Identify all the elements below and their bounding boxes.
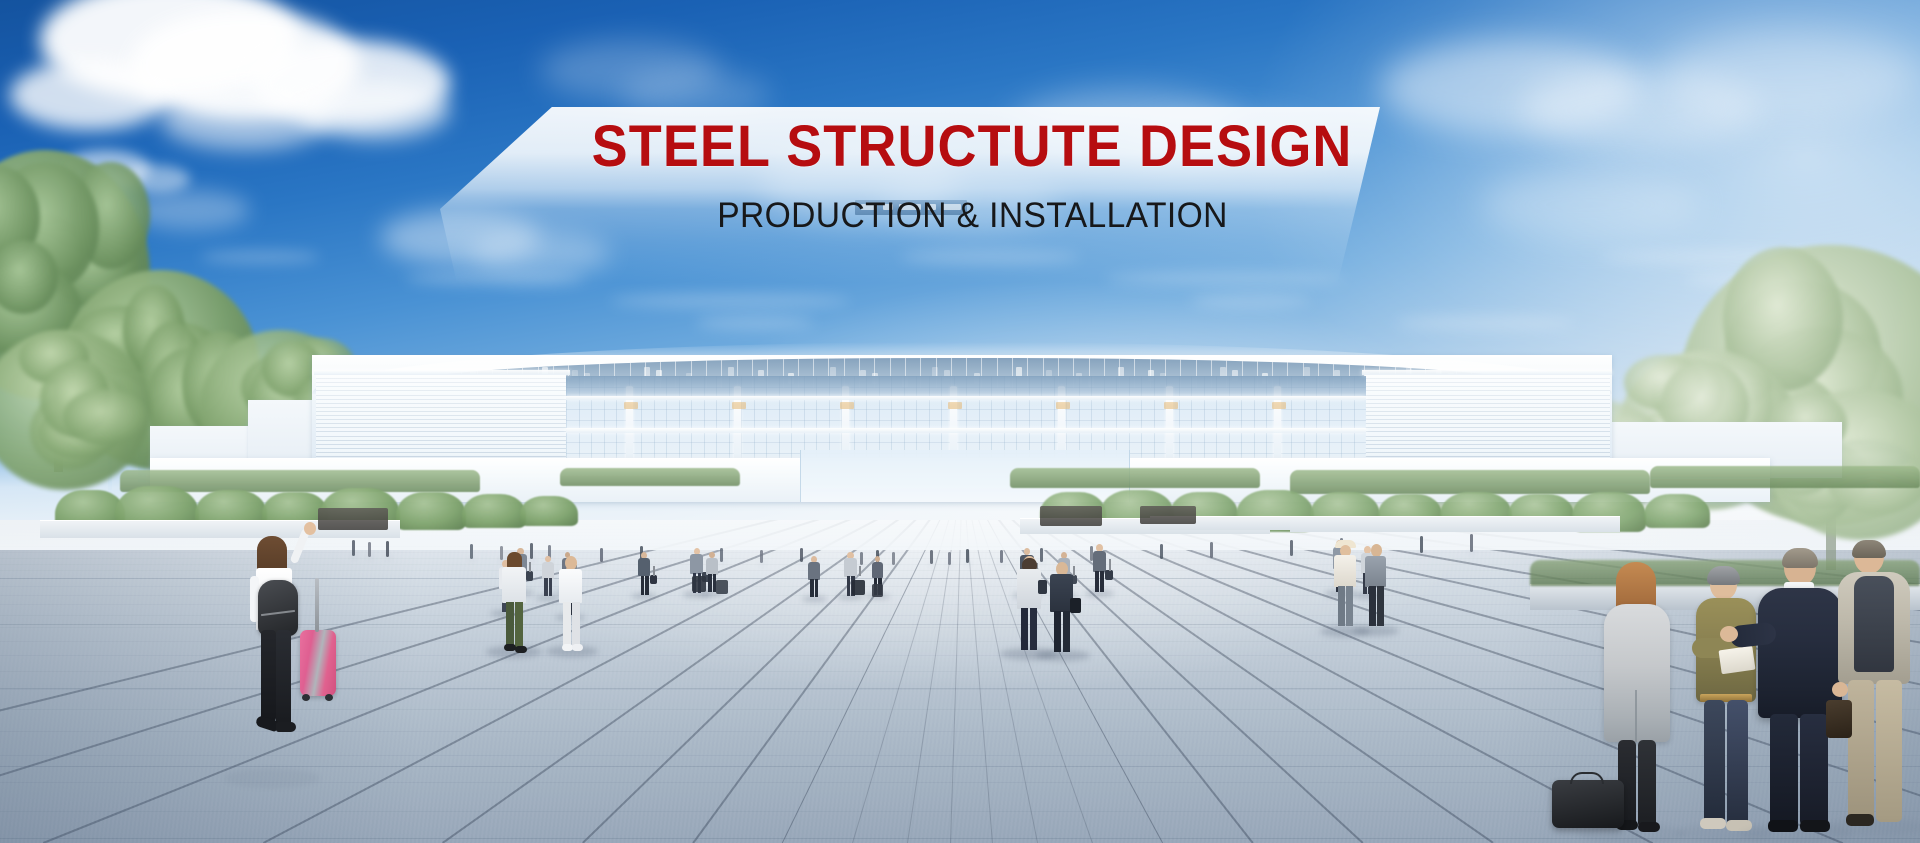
rolling-bag (650, 575, 657, 584)
distant-person (1420, 536, 1423, 553)
person-shadow (1158, 558, 1166, 561)
person-shadow (928, 563, 936, 566)
person-walking-right-mid (1362, 544, 1390, 632)
person-leg (847, 576, 851, 596)
person-leg (1100, 571, 1104, 593)
luggage (872, 584, 883, 597)
person-leg (1030, 608, 1037, 650)
suitcase-handle (315, 578, 319, 632)
luggage (716, 580, 728, 594)
shoe (1768, 820, 1798, 832)
person-leg (1021, 608, 1028, 650)
person-walking (636, 552, 653, 596)
distant-person (800, 548, 803, 562)
person-shadow (1288, 555, 1296, 558)
distant-person (368, 542, 371, 557)
person-shadow (998, 562, 1006, 565)
person-leg (1095, 571, 1099, 593)
person-shadow (1208, 557, 1216, 560)
person-shadow (366, 556, 374, 559)
person-walking-left-mid-2 (556, 556, 586, 652)
shoe (515, 646, 527, 653)
person-head (565, 556, 577, 570)
person-leg (1876, 680, 1902, 822)
person-leg (815, 579, 818, 598)
shoe (1638, 822, 1660, 832)
person-leg (506, 602, 514, 646)
person-walking (1090, 544, 1109, 594)
distant-person (1470, 534, 1473, 552)
distant-person (386, 541, 389, 557)
person-shirt (1334, 555, 1356, 587)
distant-person (530, 543, 533, 559)
distant-person (1290, 540, 1293, 556)
person-leg (1346, 586, 1353, 626)
person-shadow (468, 558, 476, 561)
person-shadow (1468, 551, 1476, 554)
bag-handle (653, 566, 655, 576)
distant-person (930, 550, 933, 564)
person-leg (645, 576, 648, 595)
person-shadow (758, 562, 766, 565)
waving-hand (304, 522, 316, 535)
person-torso (844, 558, 856, 577)
bag-handle (859, 566, 861, 576)
person-walking (540, 556, 556, 598)
dark-vest (1854, 576, 1894, 672)
luggage (692, 576, 706, 592)
person-hair (1852, 540, 1886, 558)
distant-person (352, 540, 355, 556)
duffel-bag (1552, 780, 1624, 828)
shoe (276, 722, 296, 732)
person-walking-center (1012, 556, 1046, 652)
person-shadow (798, 561, 806, 564)
person-tan-trousers-man (1836, 540, 1920, 840)
shoe (572, 644, 583, 651)
hand (1720, 626, 1738, 642)
person-leg (544, 578, 547, 596)
bag-handle (1570, 772, 1604, 784)
person-shadow (890, 564, 898, 567)
navy-suit-jacket (1758, 588, 1842, 718)
person-leg (276, 630, 291, 726)
briefcase (1070, 598, 1081, 613)
person-shadow (384, 556, 392, 559)
person-khaki-jacket (1690, 566, 1764, 843)
person-shirt (502, 567, 526, 603)
person-leg (261, 630, 276, 722)
person-torso (706, 558, 718, 575)
person-leg (1063, 611, 1070, 652)
person-grey-coat-woman (1596, 562, 1682, 843)
person-leg (1848, 680, 1874, 820)
grey-coat (1604, 604, 1670, 742)
person-leg (1770, 714, 1798, 828)
person-leg (572, 602, 580, 646)
people-layer (0, 0, 1920, 843)
distant-person (720, 548, 723, 562)
person-shadow (1353, 626, 1399, 636)
shoe (1846, 814, 1874, 826)
person-shadow (598, 561, 606, 564)
suitcase-wheel (302, 694, 310, 701)
rolling-bag (1105, 570, 1113, 580)
suitcase-wheel (325, 694, 333, 701)
distant-person (470, 544, 473, 559)
person-walking-center-2 (1046, 562, 1078, 654)
person-torso (638, 558, 650, 576)
person-leg (1338, 586, 1345, 626)
person-leg (1704, 700, 1725, 824)
person-leg (549, 578, 552, 596)
person-shadow (350, 555, 358, 558)
person-shadow (964, 562, 972, 565)
person-waving-with-suitcase (248, 522, 328, 782)
person-leg (641, 576, 644, 595)
papers (1718, 646, 1755, 674)
briefcase (1826, 700, 1852, 738)
person-torso (690, 554, 703, 573)
person-leg (563, 602, 571, 646)
person-leg (1054, 611, 1061, 652)
distant-person (1160, 544, 1163, 559)
person-torso (1093, 551, 1107, 572)
person-leg (1377, 586, 1384, 626)
distant-person (1210, 542, 1213, 558)
backpack (258, 580, 298, 636)
person-leg (1369, 586, 1376, 626)
person-with-hat (1330, 540, 1360, 632)
person-leg (1638, 740, 1656, 828)
person-shadow (946, 564, 954, 567)
bag-handle (1109, 559, 1111, 570)
luggage (852, 580, 865, 595)
person-leg (515, 602, 523, 648)
person-leg (708, 574, 711, 592)
person-leg (810, 579, 813, 598)
person-torso (542, 562, 554, 579)
person-hair (1782, 548, 1818, 568)
person-shirt (1365, 556, 1386, 587)
person-shadow (224, 768, 320, 788)
grey-hair (1707, 566, 1740, 585)
hero-banner: STEEL STRUCTUTE DESIGN PRODUCTION & INST… (0, 0, 1920, 843)
distant-person (600, 548, 603, 562)
person-torso (872, 562, 883, 579)
shoe (1700, 818, 1726, 829)
person-leg (1800, 714, 1828, 826)
person-leg (1727, 700, 1748, 826)
person-walking-left-mid (498, 552, 530, 652)
person-shadow (1418, 552, 1426, 555)
person-walking (806, 556, 822, 599)
coat-vent (1635, 690, 1637, 742)
person-shirt (559, 569, 582, 603)
hand (1832, 682, 1848, 697)
distant-person (966, 549, 969, 563)
pink-suitcase (300, 630, 336, 696)
person-torso (808, 562, 820, 580)
